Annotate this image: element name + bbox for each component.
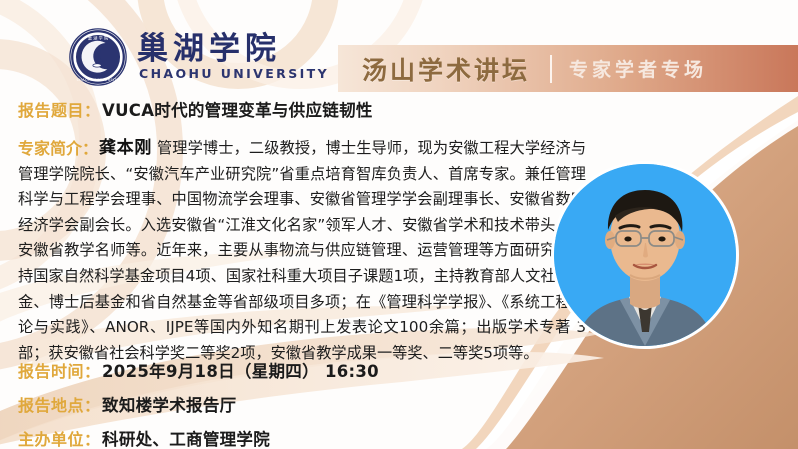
portrait-illustration	[554, 164, 736, 346]
field-time-separator: ：	[84, 358, 100, 382]
field-time-row: 报告时间 ： 2025年9月18日（星期四） 16:30	[18, 358, 379, 382]
speaker-name: 龚本刚	[99, 138, 152, 158]
field-time-value: 2025年9月18日（星期四） 16:30	[102, 358, 379, 382]
field-bio-label: 专家简介：	[18, 136, 98, 162]
seminar-poster: 巢 湖 学 院 CHAOHU UNIVERSITY 巢湖学院 CHAOHU UN…	[0, 0, 798, 449]
field-organizer-separator: ：	[84, 426, 100, 449]
field-place-separator: ：	[84, 392, 100, 416]
field-organizer-label: 主办单位	[18, 426, 84, 449]
field-place-label: 报告地点	[18, 392, 84, 416]
field-title-label: 报告题目	[18, 97, 84, 121]
field-bio-text: 龚本刚 管理学博士，二级教授，博士生导师，现为安徽工程大学经济与管理学院院长、“…	[18, 136, 586, 366]
speaker-portrait	[554, 164, 736, 346]
field-title-value: VUCA时代的管理变革与供应链韧性	[102, 97, 373, 121]
speaker-bio-body: 管理学博士，二级教授，博士生导师，现为安徽工程大学经济与管理学院院长、“安徽汽车…	[18, 139, 586, 362]
field-place-value: 致知楼学术报告厅	[102, 392, 236, 416]
field-place-row: 报告地点 ： 致知楼学术报告厅	[18, 392, 236, 416]
field-bio-separator: ：	[82, 139, 98, 158]
field-title-separator: ：	[84, 97, 100, 121]
field-time-label: 报告时间	[18, 358, 84, 382]
field-bio-label-text: 专家简介	[18, 139, 82, 158]
field-organizer-row: 主办单位 ： 科研处、工商管理学院	[18, 426, 270, 449]
field-organizer-value: 科研处、工商管理学院	[102, 426, 270, 449]
speaker-portrait-photo	[554, 164, 736, 346]
field-title-row: 报告题目 ： VUCA时代的管理变革与供应链韧性	[18, 97, 373, 121]
field-bio-row: 专家简介： 龚本刚 管理学博士，二级教授，博士生导师，现为安徽工程大学经济与管理…	[18, 136, 586, 366]
